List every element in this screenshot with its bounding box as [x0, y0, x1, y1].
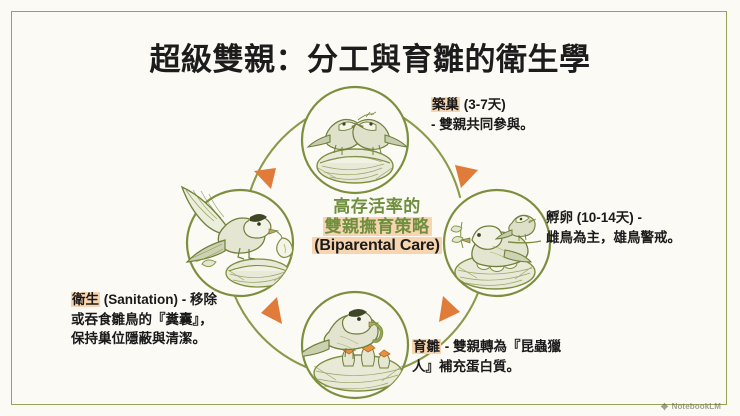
- node-nest-building[interactable]: [296, 87, 413, 193]
- notebooklm-logo-icon: [660, 402, 669, 411]
- arrow-incubation-to-rearing: [439, 296, 460, 322]
- label-rearing-keyword: 育雛: [412, 339, 441, 354]
- label-incubate-detail: 雌鳥為主，雄鳥警戒。: [546, 230, 681, 245]
- label-nest-building: 築巢 (3-7天) - 雙親共同參與。: [431, 95, 661, 134]
- arrow-sanitation-to-nest: [254, 168, 276, 189]
- arrow-nest-to-incubation: [455, 165, 478, 188]
- node-rearing[interactable]: [297, 292, 408, 398]
- label-sanitation-detail-2: 或吞食雛鳥的『糞囊』，: [71, 312, 213, 327]
- center-caption: 高存活率的 雙親撫育策略 (Biparental Care): [287, 197, 467, 256]
- label-sanitation-keyword: 衛生: [71, 292, 100, 307]
- chick-3: [379, 350, 391, 368]
- label-rearing-detail-1: - 雙親轉為『昆蟲獵: [441, 339, 561, 354]
- label-sanitation: 衛生 (Sanitation) - 移除 或吞食雛鳥的『糞囊』， 保持巢位隱蔽與…: [71, 290, 311, 349]
- label-nest-detail: - 雙親共同參與。: [431, 117, 534, 132]
- watermark-text: NotebookLM: [672, 402, 721, 411]
- label-sanitation-detail-3: 保持巢位隱蔽與清潔。: [71, 331, 206, 346]
- label-nest-keyword: 築巢: [431, 97, 460, 112]
- label-incubate-duration: 孵卵 (10-14天) -: [546, 210, 642, 225]
- label-incubation: 孵卵 (10-14天) - 雌鳥為主，雄鳥警戒。: [546, 208, 736, 247]
- label-nest-duration: (3-7天): [460, 97, 506, 112]
- label-sanitation-detail-1: (Sanitation) - 移除: [100, 292, 217, 307]
- center-line-3: (Biparental Care): [287, 237, 467, 256]
- infographic-canvas: 超級雙親：分工與育雛的衛生學: [0, 0, 740, 416]
- center-line-2: 雙親撫育策略: [287, 217, 467, 237]
- notebooklm-watermark: NotebookLM: [660, 402, 721, 411]
- label-rearing-detail-2: 人』補充蛋白質。: [412, 359, 520, 374]
- center-line-1: 高存活率的: [287, 197, 467, 217]
- label-rearing: 育雛 - 雙親轉為『昆蟲獵 人』補充蛋白質。: [412, 337, 617, 376]
